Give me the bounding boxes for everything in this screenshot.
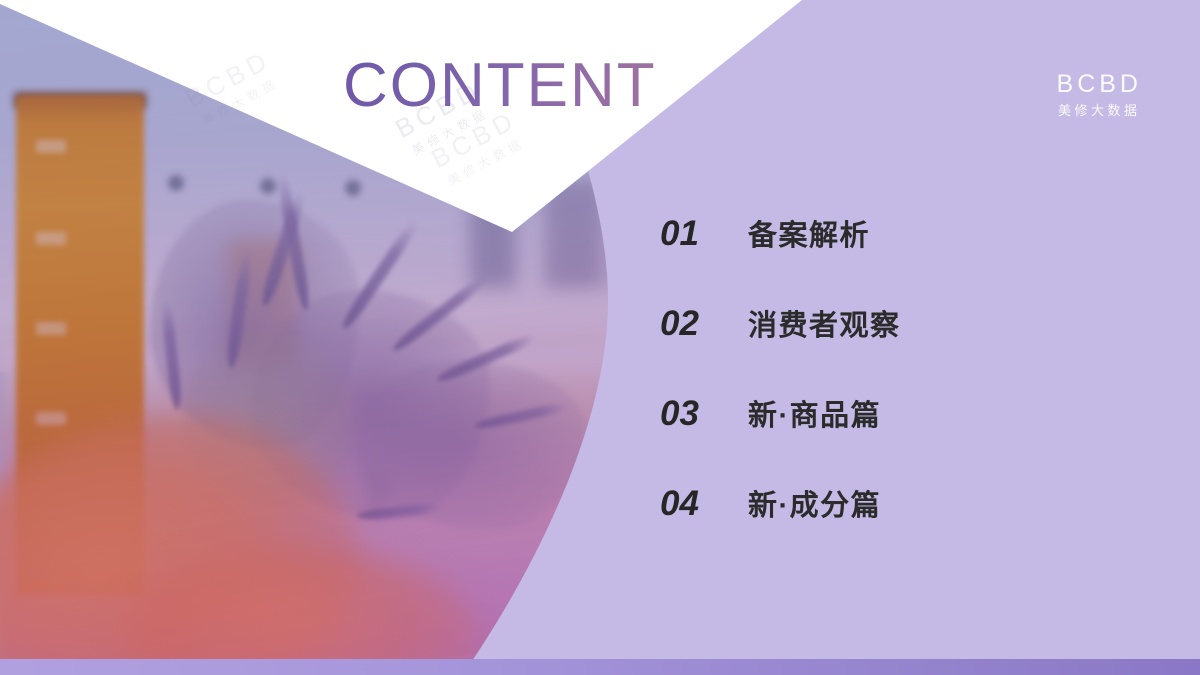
agenda-item-number: 04 bbox=[660, 484, 748, 524]
agenda-item-label: 消费者观察 bbox=[748, 302, 901, 344]
agenda-item-03[interactable]: 03 新·商品篇 bbox=[660, 392, 1140, 482]
agenda-item-number: 03 bbox=[660, 394, 748, 434]
agenda-list: 01 备案解析 02 消费者观察 03 新·商品篇 04 新·成分篇 bbox=[660, 212, 1140, 572]
agenda-item-label: 备案解析 bbox=[748, 212, 870, 254]
brand-logo: BCBD 美修大数据 bbox=[1057, 72, 1142, 117]
agenda-item-label: 新·成分篇 bbox=[748, 482, 881, 524]
bottom-accent-bar bbox=[0, 659, 1200, 675]
agenda-item-02[interactable]: 02 消费者观察 bbox=[660, 302, 1140, 392]
content-slide: BCBD 美修大数据 BCBD 美修大数据 BCBD 美修大数据 CONTENT… bbox=[0, 0, 1200, 675]
agenda-item-number: 02 bbox=[660, 304, 748, 344]
brand-logo-name: 美修大数据 bbox=[1057, 104, 1142, 117]
brand-logo-mark: BCBD bbox=[1057, 72, 1142, 97]
agenda-item-label: 新·商品篇 bbox=[748, 392, 881, 434]
agenda-item-01[interactable]: 01 备案解析 bbox=[660, 212, 1140, 302]
agenda-item-04[interactable]: 04 新·成分篇 bbox=[660, 482, 1140, 572]
page-title: CONTENT bbox=[343, 55, 657, 117]
agenda-item-number: 01 bbox=[660, 214, 748, 254]
